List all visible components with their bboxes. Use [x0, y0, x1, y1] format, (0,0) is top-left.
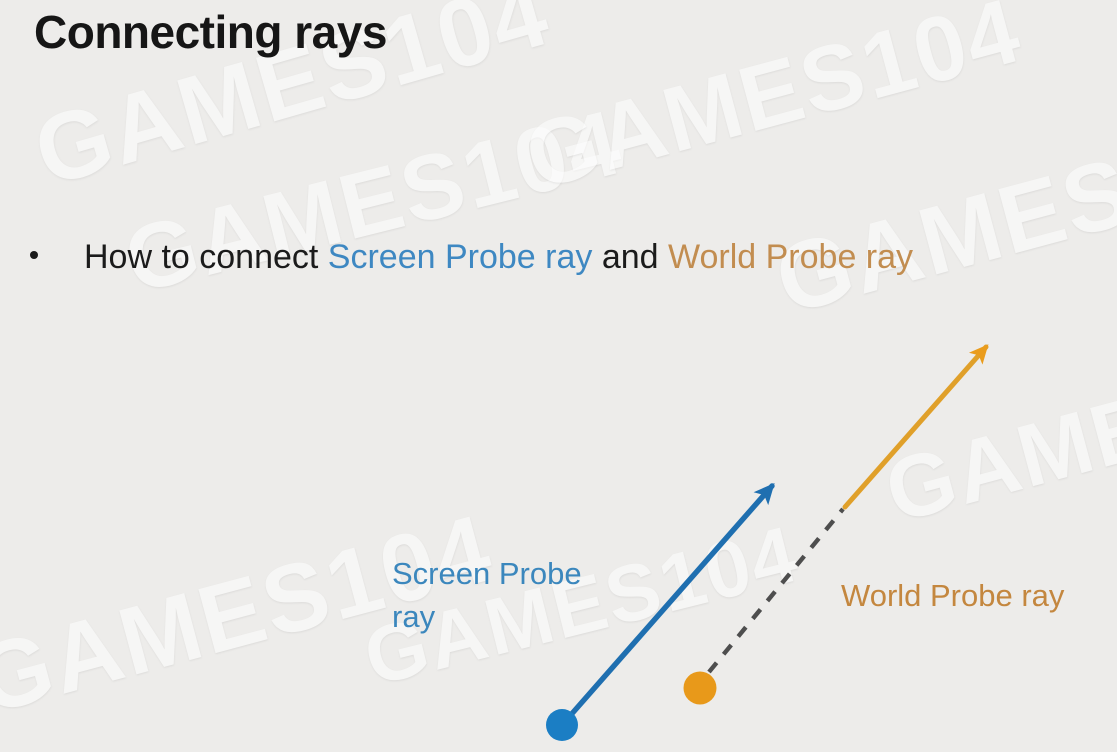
world-probe-origin-dot: [684, 672, 717, 705]
bullet-item: How to connect Screen Probe ray and Worl…: [30, 236, 913, 279]
bullet-item-text: How to connect Screen Probe ray and Worl…: [84, 236, 913, 279]
world-probe-ray-label: World Probe ray: [841, 575, 1064, 618]
screen-probe-origin-dot: [546, 709, 578, 741]
page-title: Connecting rays: [34, 4, 387, 62]
screen-probe-ray-label: Screen Probe ray: [392, 553, 632, 639]
bullet-marker-icon: [30, 251, 38, 259]
bullet-segment-plain-1: How to connect: [84, 238, 328, 276]
slide-canvas: GAMES104 GAMES104 GAMES104 GAMES104 GAME…: [0, 0, 1117, 752]
ray-diagram: [0, 0, 1117, 752]
world-probe-ray-arrow: [845, 347, 986, 507]
bullet-segment-screen-probe: Screen Probe ray: [328, 238, 593, 276]
bullet-segment-world-probe: World Probe ray: [668, 238, 913, 276]
bullet-segment-plain-2: and: [592, 238, 668, 276]
